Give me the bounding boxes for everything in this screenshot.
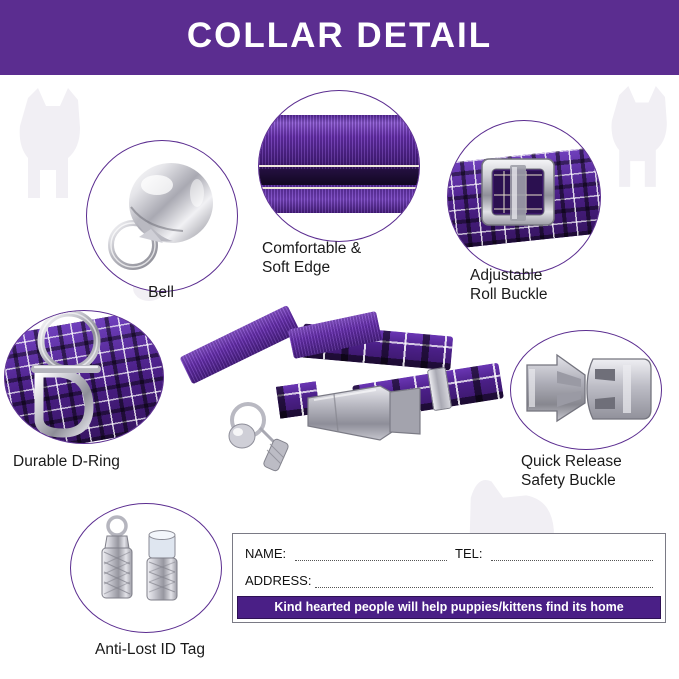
id-card-name-line[interactable] bbox=[295, 560, 447, 561]
callout-adjustable-roll-buckle-label: Adjustable Roll Buckle bbox=[470, 266, 660, 304]
callout-anti-lost-id-tag bbox=[70, 503, 222, 633]
callout-adjustable-roll-buckle bbox=[447, 120, 601, 274]
bell-icon bbox=[87, 141, 237, 291]
callout-comfortable-soft-edge-label: Comfortable & Soft Edge bbox=[262, 239, 452, 277]
roll-buckle-icon bbox=[448, 121, 600, 273]
dog-silhouette-watermark bbox=[600, 86, 675, 196]
id-capsule-icon bbox=[71, 504, 221, 632]
id-card-tel-label: TEL: bbox=[455, 546, 482, 561]
d-ring-icon bbox=[5, 311, 163, 443]
callout-bell bbox=[86, 140, 238, 292]
id-card-banner: Kind hearted people will help puppies/ki… bbox=[237, 596, 661, 619]
callout-anti-lost-id-tag-label: Anti-Lost ID Tag bbox=[55, 640, 245, 659]
webbing-pinline bbox=[258, 165, 420, 167]
id-card-address-label: ADDRESS: bbox=[245, 573, 311, 588]
id-card-tel-line[interactable] bbox=[491, 560, 653, 561]
callout-bell-label: Bell bbox=[111, 283, 211, 302]
webbing-edge-icon bbox=[258, 115, 420, 213]
collar-webbing-left bbox=[179, 305, 300, 385]
id-card-banner-text: Kind hearted people will help puppies/ki… bbox=[238, 600, 660, 614]
callout-durable-d-ring bbox=[4, 310, 164, 444]
side-release-buckle-icon bbox=[511, 331, 661, 449]
id-card: NAME: TEL: ADDRESS: Kind hearted people … bbox=[232, 533, 666, 623]
webbing-stripe bbox=[258, 169, 420, 185]
id-card-name-label: NAME: bbox=[245, 546, 286, 561]
id-card-address-line[interactable] bbox=[315, 587, 653, 588]
collar-product-image bbox=[182, 312, 500, 454]
callout-comfortable-soft-edge bbox=[258, 90, 420, 242]
callout-quick-release-safety-buckle-label: Quick Release Safety Buckle bbox=[521, 452, 679, 490]
collar-bell-and-tag-icon bbox=[214, 398, 304, 488]
callout-durable-d-ring-label: Durable D-Ring bbox=[13, 452, 203, 471]
callout-quick-release-safety-buckle bbox=[510, 330, 662, 450]
webbing-pinline bbox=[258, 187, 420, 189]
product-infographic: COLLAR DETAIL bbox=[0, 0, 679, 679]
dog-silhouette-watermark bbox=[8, 88, 88, 208]
page-title: COLLAR DETAIL bbox=[0, 16, 679, 56]
